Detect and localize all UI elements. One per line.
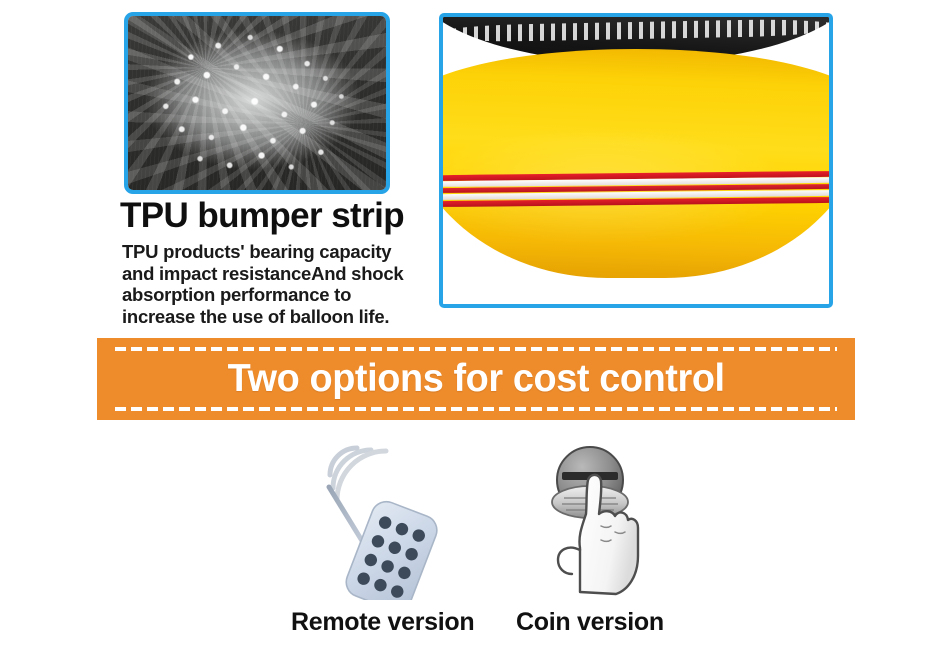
feature-description-line-2: and impact resistanceAnd shock [122, 263, 432, 285]
feature-description-line-3: absorption performance to [122, 284, 432, 306]
feature-description-line-4: increase the use of balloon life. [122, 306, 432, 328]
pellet-grain-overlay [128, 16, 386, 190]
tpu-pellets-photo [124, 12, 390, 194]
bumper-boat-closeup-photo [439, 13, 833, 308]
banner-title: Two options for cost control [227, 357, 724, 401]
cost-control-banner: Two options for cost control [97, 338, 855, 420]
banner-dashed-rule-bottom [115, 407, 837, 411]
option-label-remote: Remote version [291, 608, 474, 637]
pellets-background [128, 16, 386, 190]
boat-yellow-body [439, 49, 833, 279]
product-feature-page: TPU bumper strip TPU products' bearing c… [0, 0, 950, 665]
feature-description: TPU products' bearing capacity and impac… [122, 241, 432, 327]
hand-inserting-coin-icon [520, 440, 670, 600]
option-label-coin: Coin version [516, 608, 664, 637]
feature-heading: TPU bumper strip [120, 198, 404, 233]
remote-body [342, 497, 441, 600]
feature-description-line-1: TPU products' bearing capacity [122, 241, 432, 263]
option-coin-version[interactable] [520, 440, 670, 600]
remote-control-icon [300, 440, 480, 600]
option-remote-version[interactable] [300, 440, 480, 600]
signal-waves-icon [330, 448, 386, 500]
boat-photo-content [443, 17, 829, 304]
antenna-icon [329, 487, 364, 544]
banner-dashed-rule-top [115, 347, 837, 351]
